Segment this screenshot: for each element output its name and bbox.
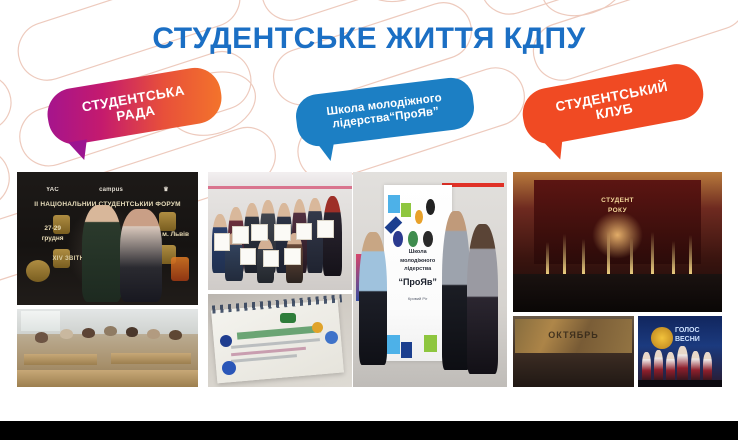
photo-column-proyav-training [208,172,352,387]
emblem-icon [651,327,673,348]
bottom-bar [0,421,738,440]
logo-campus: campus [99,187,123,193]
photo-large-group: ОКТЯБРЬ [513,316,634,387]
badge-student-council-text: СТУДЕНТСЬКА РАДА [71,81,198,131]
badge-student-club-text: СТУДЕНТСЬКИЙ КЛУБ [544,77,681,131]
certificate-sheet [296,223,312,240]
audience-silhouette [513,274,722,312]
photo-dance-ensemble: ГОЛОС ВЕСНИ [638,316,722,387]
wall-accent-stripe [442,183,504,187]
dancer-figure [677,346,688,384]
badge-proyav-school: Школа молодіжного лідерства“ПроЯв” [293,75,476,148]
photo-handout-document [208,294,352,387]
forum-date: 27-29 грудня [30,224,76,244]
person-figure [35,332,48,342]
partner-logo-icon [408,231,417,247]
certificate-sheet [284,248,300,265]
certificate-sheet [251,224,267,241]
firework-spark [546,242,549,276]
logo-crest-icon: ♛ [163,186,169,193]
person-figure [60,329,73,339]
badge-student-club: СТУДЕНТСЬКИЙ КЛУБ [518,60,707,148]
person-figure [442,211,470,370]
rollup-subtitle: Школа молодіжного лідерства [388,248,448,273]
firework-spark [607,231,610,276]
desk-shape [111,353,191,364]
backdrop-title: ОКТЯБРЬ [513,330,634,340]
page-title: СТУДЕНТСЬКЕ ЖИТТЯ КДПУ [0,22,738,56]
logo-badge-icon [325,331,338,344]
pen-icon [159,212,176,231]
person-figure [104,326,117,336]
person-figure [120,209,162,302]
person-figure [359,232,387,365]
stage-floor [638,380,722,387]
decor-shape [424,335,436,353]
photo-student-of-the-year-stage: СТУДЕНТ РОКУ [513,172,722,312]
window-shape [21,311,61,331]
decor-shape [426,199,435,215]
decor-shape [401,203,410,217]
backdrop-title: ГОЛОС ВЕСНИ [675,327,700,344]
banner-logo-row: YAC campus ♛ [26,181,189,198]
logo-yac: YAC [46,187,59,193]
decor-shape [401,342,412,358]
firework-spark [582,239,585,275]
certificate-sheet [240,248,256,265]
photo-column-proyav-banner: Школа молодіжного лідерства “ПроЯв” Крив… [353,172,507,387]
person-figure [169,330,182,340]
decor-shape [387,335,401,354]
wall-accent-stripe [208,186,352,189]
photo-column-student-council: YAC campus ♛ II НАЦІОНАЛЬНИЙ СТУДЕНТСЬКИ… [17,172,198,387]
bubble-tail-icon [68,139,90,162]
bubble-tail-icon [544,139,566,162]
photo-proyav-rollup: Школа молодіжного лідерства “ПроЯв” Крив… [353,172,507,387]
forum-city: м. Львів [162,231,189,238]
logo-badge-icon [220,335,232,347]
person-figure [147,329,160,339]
desk-shape [17,370,198,387]
firework-spark [651,232,654,275]
photo-column-student-club: СТУДЕНТ РОКУ ОКТЯБРЬ ГОЛОС ВЕСНИ [513,172,722,387]
firework-spark [563,234,566,276]
photo-lecture-hall [17,309,198,387]
person-figure [82,328,95,338]
certificate-sheet [317,220,333,237]
firework-spark [630,238,633,276]
ceiling-area [208,172,352,187]
photo-national-student-forum: YAC campus ♛ II НАЦІОНАЛЬНИЙ СТУДЕНТСЬКИ… [17,172,198,305]
flame-icon [171,257,189,281]
decor-shape [415,210,423,224]
person-figure [467,224,498,375]
decor-shape [388,195,400,213]
certificate-sheet [263,250,279,267]
rollup-city: Кривий Ріг [388,296,448,301]
stage-spotlight [592,211,642,259]
bubble-tail-icon [317,141,336,162]
marker-pen-icon [280,313,296,323]
firework-spark [689,235,692,276]
partner-logo-icon [393,231,402,247]
desk-shape [24,354,96,365]
partner-logo-icon [423,231,432,247]
person-figure [82,205,122,302]
photo-certificate-group [208,172,352,290]
presentation-slide: СТУДЕНТСЬКЕ ЖИТТЯ КДПУ СТУДЕНТСЬКА РАДА … [0,0,738,440]
person-figure [126,327,139,337]
certificate-sheet [232,226,248,243]
badge-proyav-school-text: Школа молодіжного лідерства“ПроЯв” [316,91,454,133]
certificate-sheet [274,224,290,241]
rollup-title: “ПроЯв” [388,277,448,287]
firework-spark [672,241,675,276]
badge-student-council: СТУДЕНТСЬКА РАДА [44,64,226,148]
certificate-sheet [214,233,230,250]
